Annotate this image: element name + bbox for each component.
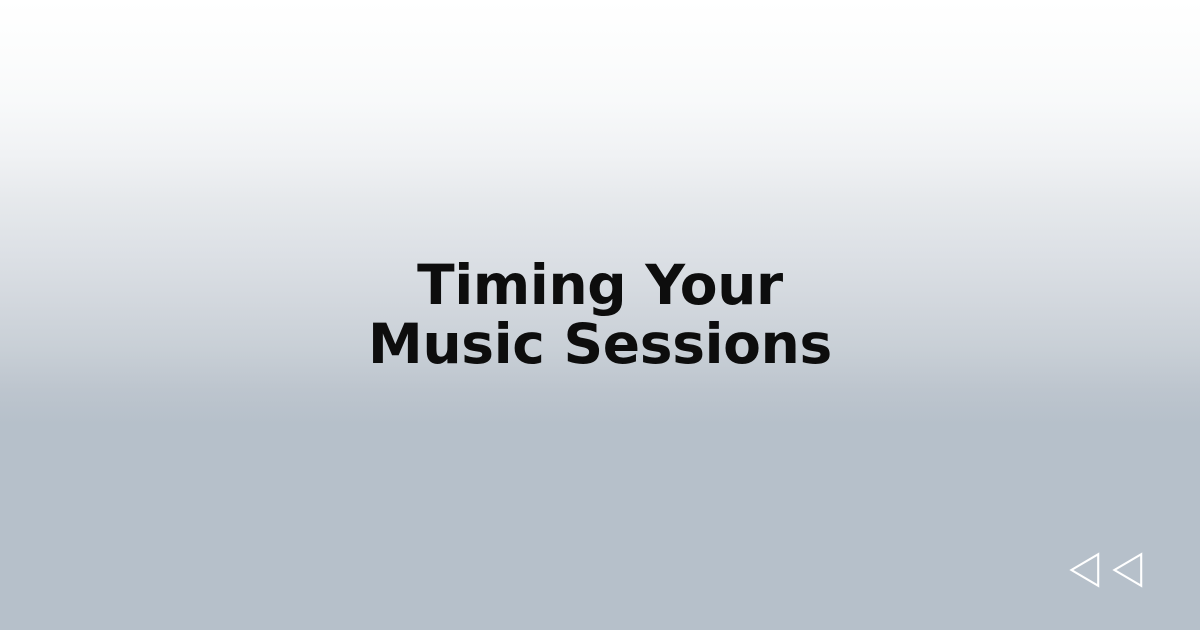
skip-to-start-arrow[interactable]: [1069, 552, 1100, 588]
slide-canvas: Timing Your Music Sessions: [0, 0, 1200, 630]
triangle-left-outline-icon: [1069, 552, 1100, 588]
triangle-left-outline-icon: [1112, 552, 1143, 588]
title-block: Timing Your Music Sessions: [0, 0, 1200, 630]
navigation-arrows: [1069, 552, 1143, 588]
page-title: Timing Your Music Sessions: [365, 256, 835, 374]
previous-slide-arrow[interactable]: [1112, 552, 1143, 588]
